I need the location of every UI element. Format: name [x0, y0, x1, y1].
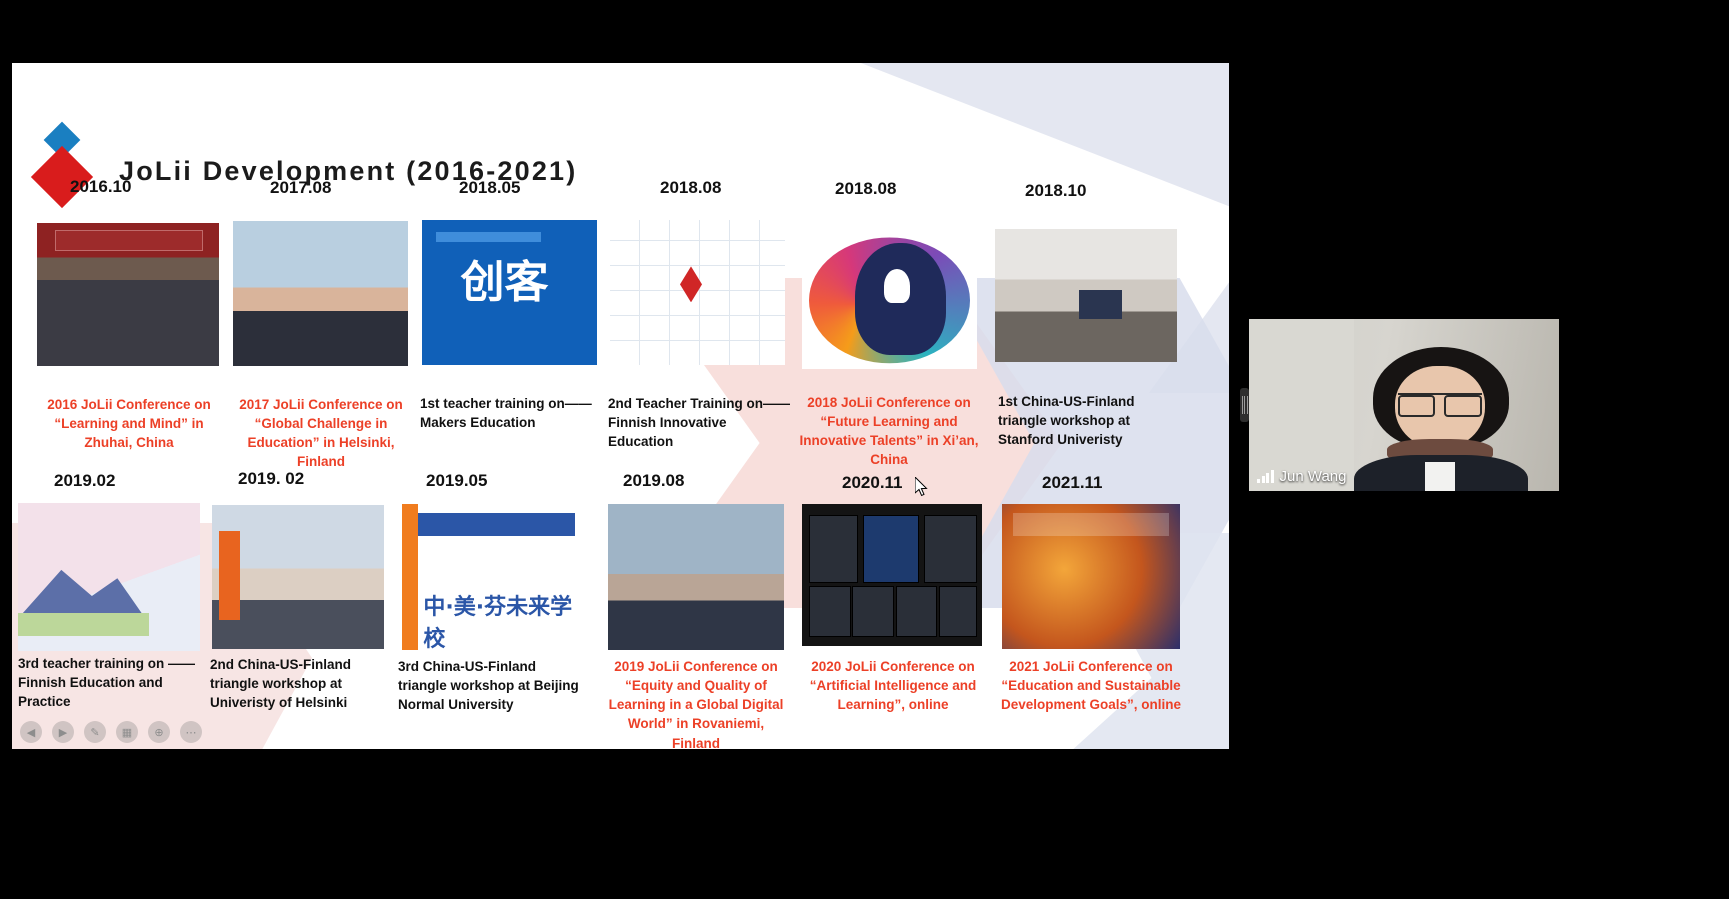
- glasses-icon: [1398, 393, 1483, 413]
- event-thumbnail[interactable]: [37, 223, 219, 366]
- previous-slide-icon[interactable]: ◀: [20, 721, 42, 743]
- event-thumbnail[interactable]: [610, 220, 785, 365]
- pointer-options-icon[interactable]: ✎: [84, 721, 106, 743]
- next-slide-icon[interactable]: ▶: [52, 721, 74, 743]
- event-date: 2018.05: [459, 178, 520, 198]
- event-caption: 2nd Teacher Training on—— Finnish Innova…: [608, 394, 794, 451]
- mouse-cursor: [915, 477, 929, 497]
- event-date: 2019.02: [54, 471, 115, 491]
- video-wall: [1249, 319, 1354, 491]
- event-caption: 2018 JoLii Conference on “Future Learnin…: [798, 393, 980, 470]
- event-thumbnail[interactable]: [233, 221, 408, 366]
- participant-figure: [1373, 347, 1509, 491]
- event-thumbnail[interactable]: [608, 504, 784, 650]
- event-thumbnail[interactable]: [1002, 504, 1180, 649]
- event-date: 2018.08: [835, 179, 896, 199]
- event-date: 2017.08: [270, 178, 331, 198]
- event-thumbnail[interactable]: [995, 229, 1177, 362]
- event-date: 2020.11: [842, 473, 903, 493]
- video-panel-drag-handle[interactable]: [1240, 388, 1249, 422]
- event-caption: 2016 JoLii Conference on “Learning and M…: [33, 395, 225, 452]
- event-date: 2019.05: [426, 471, 487, 491]
- zoom-slide-icon[interactable]: ⊕: [148, 721, 170, 743]
- event-caption: 2020 JoLii Conference on “Artificial Int…: [802, 657, 984, 714]
- event-date: 2019.08: [623, 471, 684, 491]
- event-caption: 2021 JoLii Conference on “Education and …: [998, 657, 1184, 714]
- participant-name-badge: Jun Wang: [1257, 468, 1346, 485]
- event-date: 2021.11: [1042, 473, 1103, 493]
- signal-bars-icon: [1257, 470, 1274, 483]
- event-thumbnail[interactable]: [802, 504, 982, 646]
- event-date: 2016.10: [70, 177, 131, 197]
- event-caption: 3rd China-US-Finland triangle workshop a…: [398, 657, 582, 714]
- event-date: 2018.10: [1025, 181, 1086, 201]
- event-caption: 2nd China-US-Finland triangle workshop a…: [210, 655, 388, 712]
- event-caption: 1st teacher training on—— Makers Educati…: [420, 394, 600, 432]
- event-caption: 2019 JoLii Conference on “Equity and Qua…: [604, 657, 788, 749]
- event-thumbnail[interactable]: 中·美·芬未来学校: [402, 504, 580, 650]
- event-thumbnail[interactable]: [18, 503, 200, 651]
- event-thumbnail[interactable]: [422, 220, 597, 365]
- powerpoint-slideshow-controls[interactable]: ◀ ▶ ✎ ▦ ⊕ ⋯: [20, 721, 202, 743]
- event-caption: 2017 JoLii Conference on “Global Challen…: [228, 395, 414, 472]
- thumb-chinese-text: 中·美·芬未来学校: [423, 589, 580, 650]
- event-thumbnail[interactable]: [802, 226, 977, 369]
- event-date: 2018.08: [660, 178, 721, 198]
- event-caption: 1st China-US-Finland triangle workshop a…: [998, 392, 1184, 449]
- event-thumbnail[interactable]: [212, 505, 384, 649]
- event-date: 2019. 02: [238, 469, 304, 489]
- shared-screen-area[interactable]: JoLii Development (2016-2021) 2016.10 20…: [12, 63, 1229, 749]
- participant-video-tile[interactable]: Jun Wang: [1249, 319, 1559, 491]
- event-caption: 3rd teacher training on ——Finnish Educat…: [18, 654, 213, 711]
- all-slides-icon[interactable]: ▦: [116, 721, 138, 743]
- presentation-slide: JoLii Development (2016-2021) 2016.10 20…: [12, 63, 1229, 749]
- zoom-meeting-window: JoLii Development (2016-2021) 2016.10 20…: [0, 0, 1729, 899]
- more-options-icon[interactable]: ⋯: [180, 721, 202, 743]
- participant-name: Jun Wang: [1280, 468, 1347, 485]
